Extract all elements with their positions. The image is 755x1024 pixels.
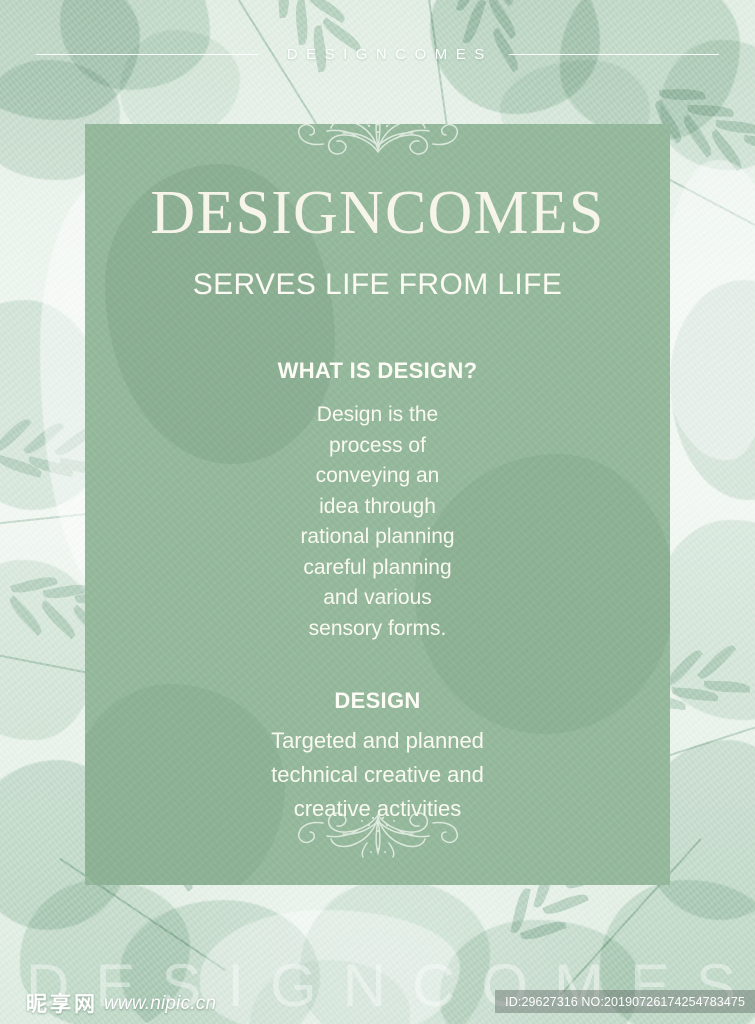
content-panel: DESIGNCOMES SERVES LIFE FROM LIFE WHAT I… <box>85 124 670 885</box>
body-line: and various <box>85 583 670 614</box>
panel-content: DESIGNCOMES SERVES LIFE FROM LIFE WHAT I… <box>85 124 670 885</box>
section-what-is-design: WHAT IS DESIGN? Design is the process of… <box>85 358 670 644</box>
body-line: rational planning <box>85 522 670 553</box>
body-line: Targeted and planned <box>85 724 670 758</box>
logo-char: 享 <box>50 992 71 1016</box>
body-line: sensory forms. <box>85 614 670 645</box>
section-heading: WHAT IS DESIGN? <box>85 358 670 384</box>
header-rule-left <box>36 54 258 55</box>
body-line: technical creative and <box>85 758 670 792</box>
poster-root: DESIGNCOMES DESIGNCOMES <box>0 0 755 1024</box>
body-line: process of <box>85 431 670 462</box>
nipic-url: www.nipic.cn <box>104 993 216 1015</box>
body-line: conveying an <box>85 461 670 492</box>
header-bar: DESIGNCOMES <box>0 40 755 68</box>
section-body: Design is the process of conveying an id… <box>85 400 670 644</box>
nipic-logo-characters: 昵 享 网 <box>26 992 95 1016</box>
poster-title: DESIGNCOMES <box>150 182 604 244</box>
body-line: Design is the <box>85 400 670 431</box>
poster-subtitle: SERVES LIFE FROM LIFE <box>193 268 563 302</box>
nipic-logo: 昵 享 网 www.nipic.cn <box>26 992 216 1016</box>
body-line: idea through <box>85 492 670 523</box>
footer-watermark-bar: 昵 享 网 www.nipic.cn ID:29627316 NO:201907… <box>0 984 755 1024</box>
logo-char: 昵 <box>26 992 47 1016</box>
header-rule-right <box>509 54 719 55</box>
section-heading: DESIGN <box>85 688 670 714</box>
logo-char: 网 <box>74 992 95 1016</box>
ornament-bottom <box>263 805 493 861</box>
body-line: careful planning <box>85 553 670 584</box>
image-id-badge: ID:29627316 NO:20190726174254783475 <box>495 990 755 1013</box>
header-title: DESIGNCOMES <box>278 46 493 63</box>
